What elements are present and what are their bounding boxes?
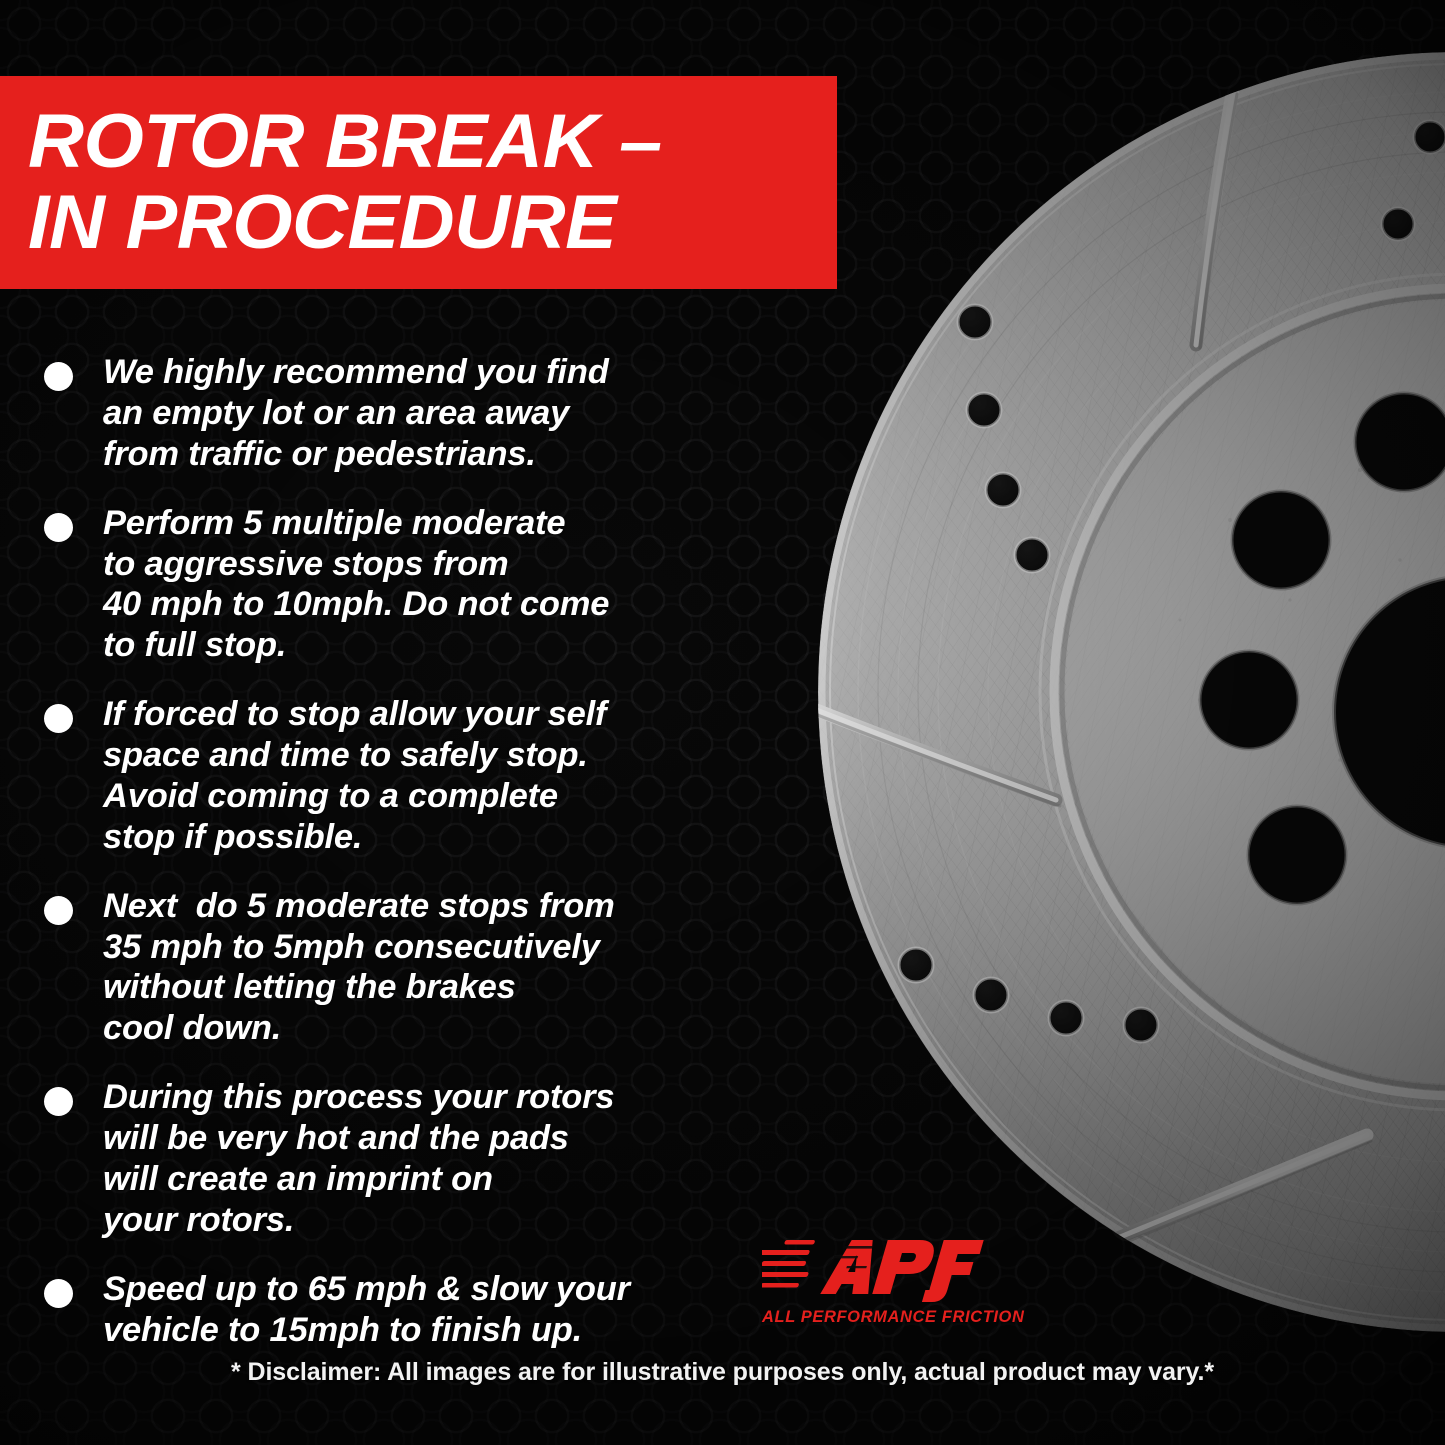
list-item-text: If forced to stop allow your self space … xyxy=(103,694,606,858)
list-item: Speed up to 65 mph & slow your vehicle t… xyxy=(44,1269,744,1351)
list-item: During this process your rotors will be … xyxy=(44,1077,744,1241)
page-title-line-2: IN PROCEDURE xyxy=(28,186,853,260)
list-item: We highly recommend you find an empty lo… xyxy=(44,352,744,475)
apf-logo-mark-icon xyxy=(762,1232,992,1304)
apf-logo-tagline: ALL PERFORMANCE FRICTION xyxy=(762,1308,992,1327)
disclaimer-text: * Disclaimer: All images are for illustr… xyxy=(0,1358,1445,1387)
bullet-dot-icon xyxy=(44,513,73,542)
bullet-dot-icon xyxy=(44,1279,73,1308)
list-item: If forced to stop allow your self space … xyxy=(44,694,744,858)
list-item-text: During this process your rotors will be … xyxy=(103,1077,614,1241)
list-item-text: Speed up to 65 mph & slow your vehicle t… xyxy=(103,1269,630,1351)
page-title-line-1: ROTOR BREAK – xyxy=(28,105,853,179)
procedure-list: We highly recommend you find an empty lo… xyxy=(44,352,744,1378)
list-item-text: Perform 5 multiple moderate to aggressiv… xyxy=(103,503,609,667)
bullet-dot-icon xyxy=(44,704,73,733)
bullet-dot-icon xyxy=(44,896,73,925)
list-item: Next do 5 moderate stops from 35 mph to … xyxy=(44,886,744,1050)
bullet-dot-icon xyxy=(44,362,73,391)
apf-logo: ALL PERFORMANCE FRICTION xyxy=(762,1232,992,1337)
bullet-dot-icon xyxy=(44,1087,73,1116)
title-banner: ROTOR BREAK – IN PROCEDURE xyxy=(0,76,837,289)
rotor-break-in-infographic: ROTOR BREAK – IN PROCEDURE We highly rec… xyxy=(0,0,1445,1445)
list-item-text: Next do 5 moderate stops from 35 mph to … xyxy=(103,886,615,1050)
list-item: Perform 5 multiple moderate to aggressiv… xyxy=(44,503,744,667)
list-item-text: We highly recommend you find an empty lo… xyxy=(103,352,609,475)
